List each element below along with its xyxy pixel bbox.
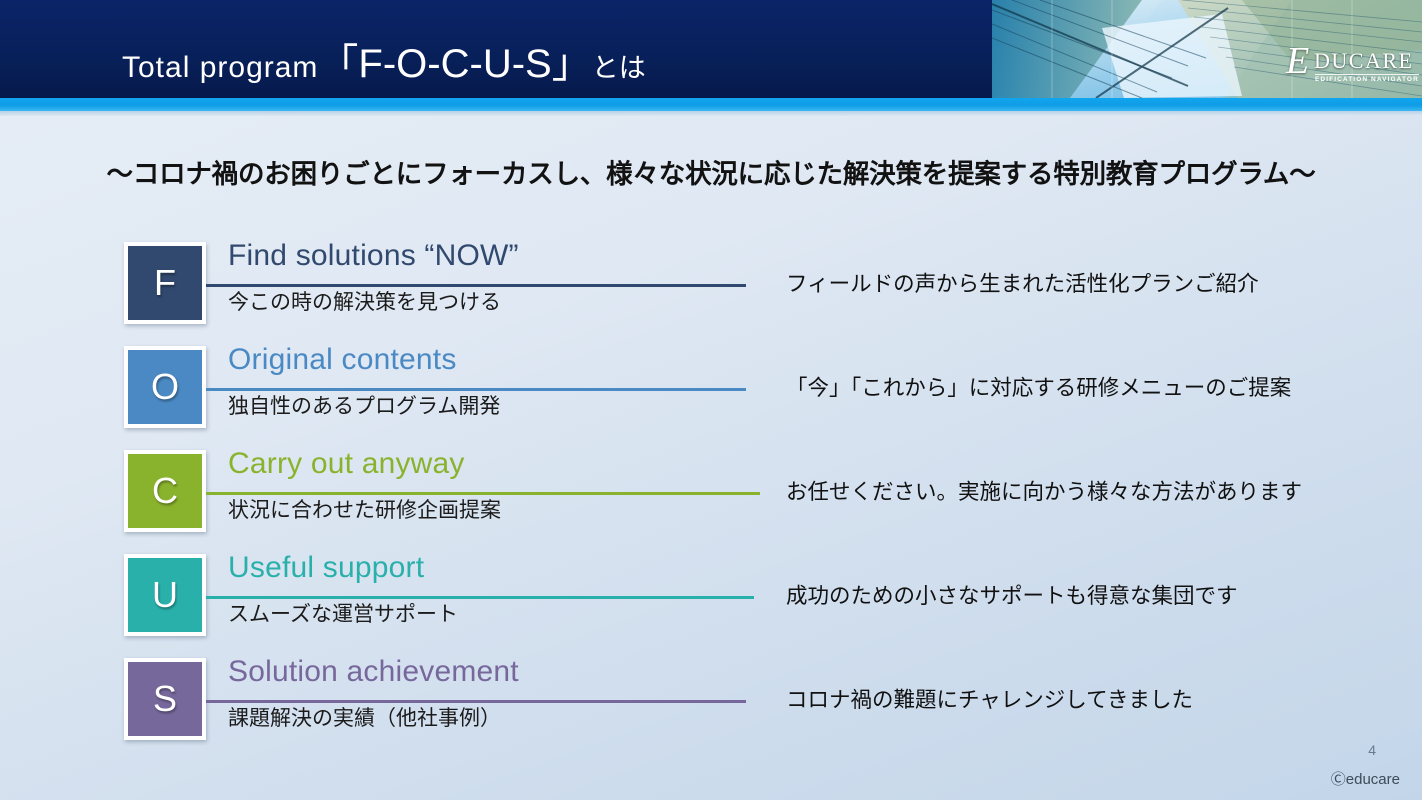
header-accent-band [0, 98, 1422, 111]
focus-japanese-subheading: 独自性のあるプログラム開発 [228, 392, 500, 422]
page-title-main: 「F-O-C-U-S」 [318, 42, 591, 86]
focus-detail-text: お任せください。実施に向かう様々な方法があります [786, 477, 1302, 507]
focus-english-heading: Solution achievement [228, 652, 519, 692]
focus-row-rule [206, 492, 760, 495]
focus-row-rule [206, 596, 754, 599]
page-title-prefix: Total program [122, 51, 318, 84]
page-title: Total program「F-O-C-U-S」とは [122, 44, 646, 84]
focus-letter-tile: S [124, 658, 206, 740]
focus-english-heading: Original contents [228, 340, 457, 380]
focus-detail-text: 「今」「これから」に対応する研修メニューのご提案 [786, 373, 1291, 403]
focus-letter: U [128, 558, 202, 632]
focus-detail-text: 成功のための小さなサポートも得意な集団です [786, 581, 1238, 611]
logo-tagline: EDIFICATION NAVIGATOR [1315, 74, 1419, 83]
focus-rows: FFind solutions “NOW”今この時の解決策を見つけるフィールドの… [0, 236, 1422, 756]
focus-japanese-subheading: 状況に合わせた研修企画提案 [228, 496, 501, 526]
focus-letter-tile: C [124, 450, 206, 532]
focus-row: FFind solutions “NOW”今この時の解決策を見つけるフィールドの… [0, 236, 1422, 340]
header-photo-architecture: E DUCARE EDIFICATION NAVIGATOR [992, 0, 1422, 98]
page-number: 4 [1368, 742, 1376, 758]
page-title-suffix: とは [592, 53, 646, 83]
focus-letter: C [128, 454, 202, 528]
focus-row-rule [206, 388, 746, 391]
focus-row-rule [206, 284, 746, 287]
focus-japanese-subheading: 課題解決の実績（他社事例） [228, 704, 501, 734]
focus-english-heading: Find solutions “NOW” [228, 236, 519, 276]
focus-letter: O [128, 350, 202, 424]
focus-detail-text: コロナ禍の難題にチャレンジしてきました [786, 685, 1193, 715]
logo-script-mark: E [1286, 42, 1309, 80]
focus-japanese-subheading: スムーズな運営サポート [228, 600, 458, 630]
focus-letter: S [128, 662, 202, 736]
focus-letter: F [128, 246, 202, 320]
focus-english-heading: Carry out anyway [228, 444, 465, 484]
slide-header: E DUCARE EDIFICATION NAVIGATOR Total pro… [0, 0, 1422, 98]
focus-letter-tile: F [124, 242, 206, 324]
focus-letter-tile: U [124, 554, 206, 636]
focus-row: OOriginal contents独自性のあるプログラム開発「今」「これから」… [0, 340, 1422, 444]
logo-wordmark: DUCARE [1314, 50, 1413, 72]
header-accent-shadow [0, 111, 1422, 116]
educare-logo: E DUCARE EDIFICATION NAVIGATOR [1284, 44, 1414, 86]
focus-japanese-subheading: 今この時の解決策を見つける [228, 288, 501, 318]
slide-subtitle: 〜コロナ禍のお困りごとにフォーカスし、様々な状況に応じた解決策を提案する特別教育… [0, 152, 1422, 191]
focus-row-rule [206, 700, 746, 703]
copyright-notice: Ⓒeducare [1331, 768, 1400, 789]
focus-row: SSolution achievement課題解決の実績（他社事例）コロナ禍の難… [0, 652, 1422, 756]
focus-row: CCarry out anyway状況に合わせた研修企画提案お任せください。実施… [0, 444, 1422, 548]
focus-letter-tile: O [124, 346, 206, 428]
focus-english-heading: Useful support [228, 548, 424, 588]
focus-detail-text: フィールドの声から生まれた活性化プランご紹介 [786, 269, 1259, 299]
focus-row: UUseful supportスムーズな運営サポート成功のための小さなサポートも… [0, 548, 1422, 652]
